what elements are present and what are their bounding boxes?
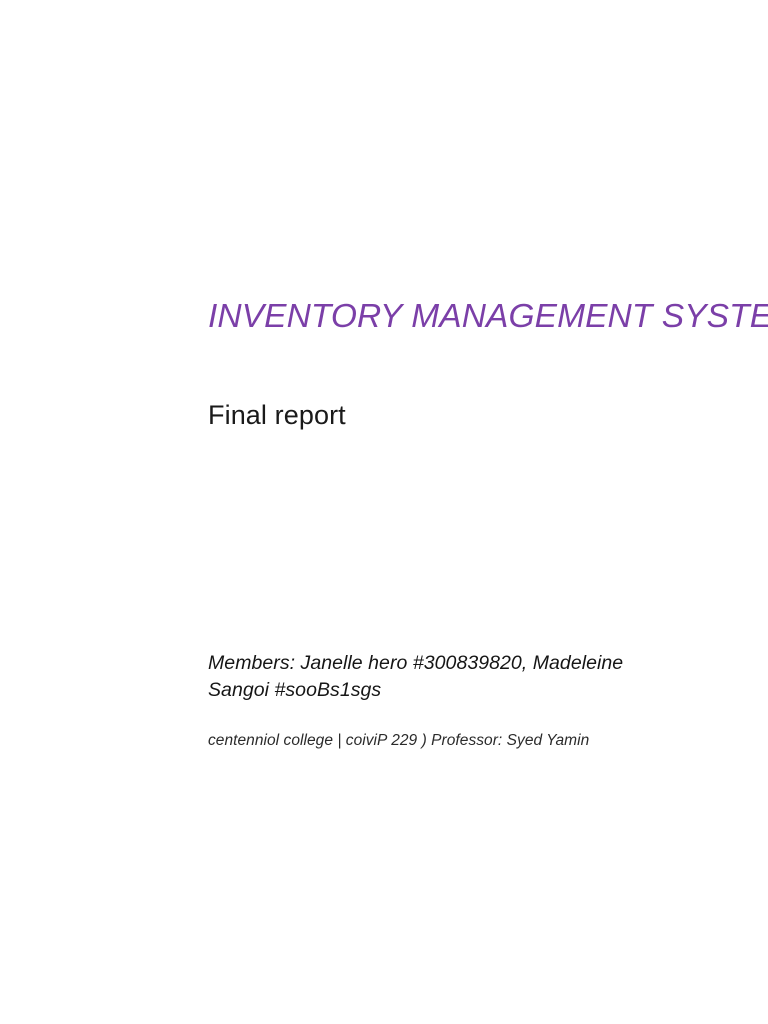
page-title: INVENTORY MANAGEMENT SYSTEM — [208, 298, 738, 336]
page-subtitle: Final report — [208, 400, 738, 431]
members-line: Members: Janelle hero #300839820, Madele… — [208, 650, 640, 705]
course-footer-line: centenniol college | coiviP 229 ) Profes… — [208, 730, 738, 752]
document-page: INVENTORY MANAGEMENT SYSTEM Final report… — [0, 0, 768, 1024]
